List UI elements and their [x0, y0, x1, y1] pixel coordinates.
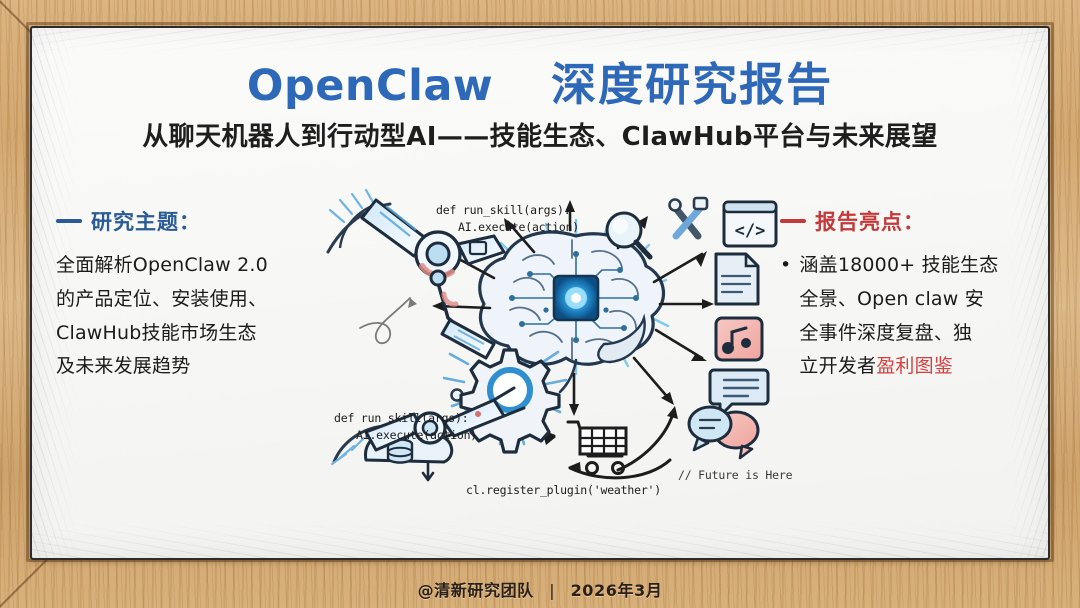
- footer-separator: |: [549, 581, 555, 600]
- left-panel-line: ClawHub技能市场生态: [56, 317, 324, 351]
- slide-frame: OpenClaw 深度研究报告 从聊天机器人到行动型AI——技能生态、ClawH…: [0, 0, 1080, 608]
- right-panel-line: 全事件深度复盘、独: [799, 322, 972, 344]
- left-panel-line: 全面解析OpenClaw 2.0: [56, 249, 324, 283]
- wrench-hammer-icon: [670, 198, 708, 236]
- code-line: def run_skill(args):: [436, 202, 579, 219]
- title-english: OpenClaw: [247, 61, 493, 111]
- code-line: AI.execute(action): [334, 427, 477, 444]
- code-annotation-plugin: cl.register_plugin('weather'): [466, 482, 661, 499]
- footer-author: @清新研究团队: [418, 581, 534, 600]
- right-panel-heading: 报告亮点：: [780, 206, 1030, 236]
- code-line: def run_skill(args):: [334, 410, 477, 427]
- right-panel-body: • 涵盖18000+ 技能生态 全景、Open claw 安 全事件深度复盘、独…: [780, 249, 1030, 384]
- chat-bubbles-icon: [689, 407, 758, 458]
- title-row: OpenClaw 深度研究报告: [32, 48, 1048, 113]
- footer: @清新研究团队 | 2026年3月: [0, 577, 1080, 601]
- svg-text:</>: </>: [735, 221, 766, 241]
- left-panel-line: 及未来发展趋势: [56, 350, 324, 384]
- right-panel-line: 全景、Open claw 安: [799, 288, 984, 310]
- bullet-list-item: • 涵盖18000+ 技能生态 全景、Open claw 安 全事件深度复盘、独…: [780, 249, 1030, 384]
- left-panel-body: 全面解析OpenClaw 2.0 的产品定位、安装使用、 ClawHub技能市场…: [56, 249, 324, 384]
- whiteboard-canvas: OpenClaw 深度研究报告 从聊天机器人到行动型AI——技能生态、ClawH…: [30, 26, 1050, 560]
- left-panel-heading-text: 研究主题：: [91, 206, 201, 236]
- left-panel-line: 的产品定位、安装使用、: [56, 283, 324, 317]
- music-note-icon: [716, 318, 762, 360]
- dash-icon: [56, 219, 82, 223]
- bullet-text: 涵盖18000+ 技能生态 全景、Open claw 安 全事件深度复盘、独 立…: [799, 249, 998, 384]
- code-annotation-future: // Future is Here: [678, 467, 792, 484]
- document-icon: [716, 254, 758, 304]
- subtitle: 从聊天机器人到行动型AI——技能生态、ClawHub平台与未来展望: [32, 116, 1048, 153]
- cpu-chip-icon: [554, 276, 598, 320]
- illustration: </>: [318, 178, 788, 518]
- right-panel: 报告亮点： • 涵盖18000+ 技能生态 全景、Open claw 安 全事件…: [780, 206, 1030, 384]
- code-window-icon: </>: [724, 202, 776, 246]
- right-panel-line: 涵盖18000+ 技能生态: [799, 254, 998, 276]
- right-panel-heading-text: 报告亮点：: [815, 206, 925, 236]
- footer-date: 2026年3月: [571, 581, 663, 600]
- left-panel: 研究主题： 全面解析OpenClaw 2.0 的产品定位、安装使用、 ClawH…: [56, 206, 324, 384]
- highlight-text: 盈利图鉴: [876, 355, 953, 377]
- title-chinese: 深度研究报告: [551, 48, 833, 113]
- left-panel-heading: 研究主题：: [56, 206, 324, 236]
- code-annotation-top: def run_skill(args): AI.execute(action): [436, 202, 579, 235]
- code-annotation-bottom: def run_skill(args): AI.execute(action): [334, 410, 477, 443]
- right-panel-line: 立开发者: [799, 355, 876, 377]
- board-shading-bottom: [32, 522, 1048, 558]
- code-line: AI.execute(action): [436, 219, 579, 236]
